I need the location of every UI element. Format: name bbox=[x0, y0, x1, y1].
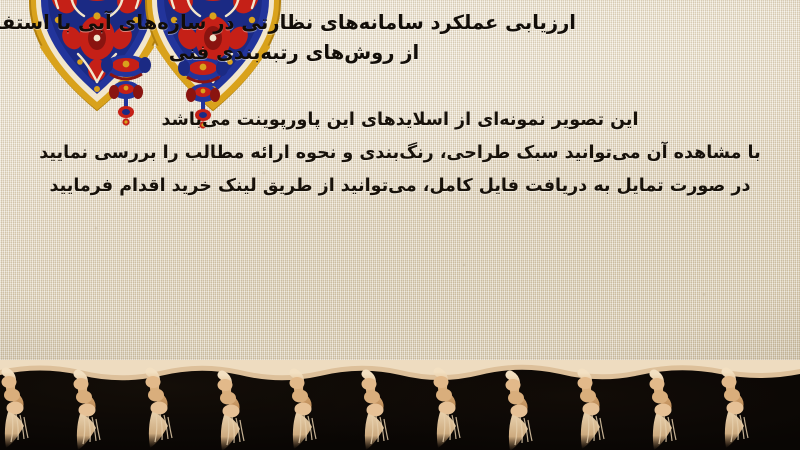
slide-title-line-2: از روش‌های رتبه‌بندی فنی bbox=[16, 38, 786, 68]
slide-canvas: ارزیابی عملکرد سامانه‌های نظارتی در سازه… bbox=[0, 0, 800, 450]
slide-title: ارزیابی عملکرد سامانه‌های نظارتی در سازه… bbox=[16, 8, 786, 68]
text-layer: ارزیابی عملکرد سامانه‌های نظارتی در سازه… bbox=[0, 0, 800, 368]
slide-body-line-1: این تصویر نمونه‌ای از اسلایدهای این پاور… bbox=[0, 104, 800, 137]
slide-title-line-1: ارزیابی عملکرد سامانه‌های نظارتی در سازه… bbox=[16, 8, 786, 38]
carpet-tassel-fringe bbox=[0, 360, 800, 450]
slide-body-text: این تصویر نمونه‌ای از اسلایدهای این پاور… bbox=[0, 104, 800, 203]
slide-body-line-2: با مشاهده آن می‌توانید سبک طراحی، رنگ‌بن… bbox=[0, 137, 800, 170]
carpet-bottom-band bbox=[0, 360, 800, 450]
slide-body-line-3: در صورت تمایل به دریافت فایل کامل، می‌تو… bbox=[0, 170, 800, 203]
